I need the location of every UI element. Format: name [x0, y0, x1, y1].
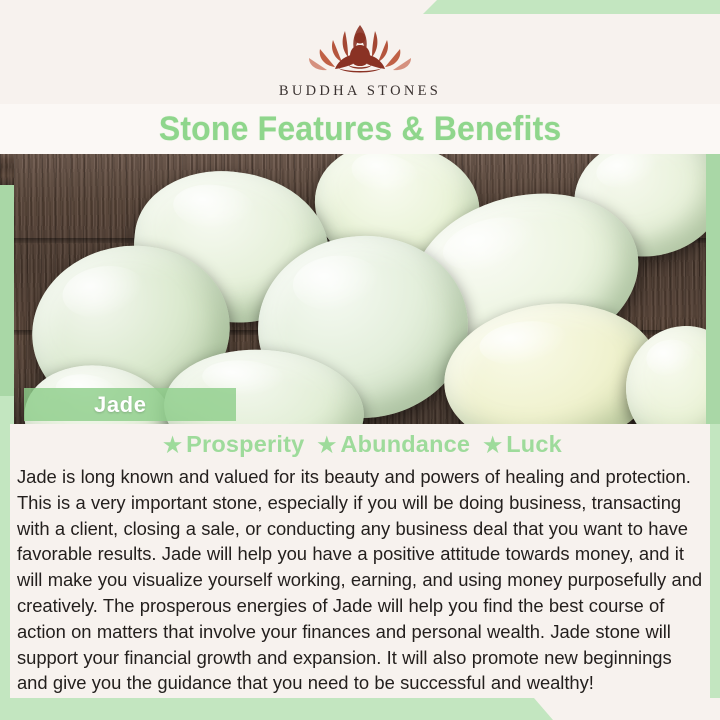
photo-rail-left-lower — [0, 396, 14, 424]
star-icon: ★ — [483, 434, 502, 457]
keyword-abundance: Abundance — [340, 431, 470, 457]
photo-rail-right — [706, 154, 720, 424]
star-icon: ★ — [163, 434, 182, 457]
star-icon: ★ — [317, 434, 336, 457]
photo-bleed-left — [0, 154, 14, 185]
brand-name: BUDDHA STONES — [279, 83, 441, 100]
jade-stones-photo: Jade — [14, 154, 706, 424]
infographic-page: BUDDHA STONES Stone Features & Benefits — [0, 0, 720, 720]
stone-photo-frame: Jade — [0, 154, 720, 424]
title-banner: Stone Features & Benefits — [0, 104, 720, 154]
brand-logo-block: BUDDHA STONES — [0, 18, 720, 100]
brand-header: BUDDHA STONES — [0, 0, 720, 110]
stone-name-label: Jade — [94, 392, 147, 418]
content-rail-right — [710, 424, 720, 698]
stone-name-bar: Jade — [24, 388, 236, 421]
page-title: Stone Features & Benefits — [159, 110, 562, 149]
keyword-luck: Luck — [506, 431, 562, 457]
keyword-prosperity: Prosperity — [186, 431, 304, 457]
keyword-row: ★Prosperity★Abundance★Luck — [10, 424, 710, 458]
lotus-meditation-icon — [285, 18, 435, 80]
content-rail-left — [0, 424, 10, 698]
photo-rail-left — [0, 185, 14, 424]
description-paragraph: Jade is long known and valued for its be… — [10, 458, 710, 696]
content-panel: ★Prosperity★Abundance★Luck Jade is long … — [10, 424, 710, 700]
